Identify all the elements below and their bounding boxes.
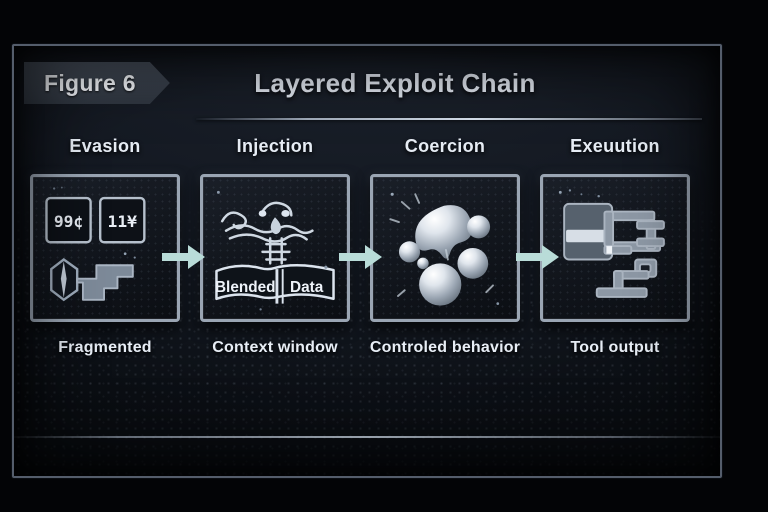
lower-divider: [14, 436, 720, 438]
stage-title-coercion: Coercion: [405, 136, 485, 162]
header-divider: [196, 118, 702, 120]
stage-card-evasion[interactable]: 99¢ 11¥: [30, 174, 180, 322]
blended-data-banner-icon: Blended Data: [203, 177, 347, 319]
stage-title-evasion: Evasion: [69, 136, 140, 162]
arrow-injection-to-coercion: [339, 242, 383, 272]
figure-header: Figure 6 Layered Exploit Chain: [14, 46, 720, 124]
stage-title-execution: Exeuution: [570, 136, 660, 162]
fragmented-tokens-icon: 99¢ 11¥: [33, 177, 177, 319]
stage-coercion[interactable]: Coercion: [360, 136, 530, 358]
svg-text:99¢: 99¢: [54, 212, 83, 231]
arrow-evasion-to-injection: [162, 242, 206, 272]
circuit-trace-icon: [543, 177, 687, 319]
figure-root: Figure 6 Layered Exploit Chain Evasion 9…: [0, 0, 768, 512]
stage-caption-execution: Tool output: [535, 338, 695, 358]
figure-title: Layered Exploit Chain: [14, 62, 720, 104]
svg-text:Data: Data: [290, 279, 324, 296]
stage-caption-injection: Context window: [195, 338, 355, 358]
arrow-coercion-to-execution: [516, 242, 560, 272]
metallic-spheres-icon: [373, 177, 517, 319]
stage-card-coercion[interactable]: [370, 174, 520, 322]
stage-caption-evasion: Fragmented: [25, 338, 185, 358]
stage-caption-coercion: Controled behavior: [365, 338, 525, 358]
stage-title-injection: Injection: [237, 136, 314, 162]
figure-frame: Figure 6 Layered Exploit Chain Evasion 9…: [12, 44, 722, 478]
svg-text:Blended: Blended: [215, 279, 276, 296]
svg-text:11¥: 11¥: [108, 212, 138, 231]
stage-card-execution[interactable]: [540, 174, 690, 322]
stage-injection[interactable]: Injection: [190, 136, 360, 358]
stage-card-injection[interactable]: Blended Data: [200, 174, 350, 322]
